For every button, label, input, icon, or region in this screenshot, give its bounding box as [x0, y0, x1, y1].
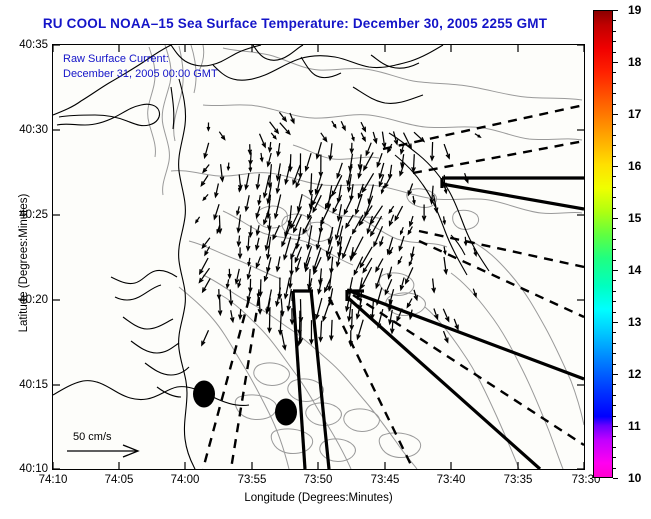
colorbar-minor-tick [613, 145, 616, 146]
xtick-label: 73:55 [238, 474, 267, 486]
colorbar-tick-label: 10 [628, 471, 641, 485]
colorbar-minor-tick [613, 280, 616, 281]
xtick-label: 73:50 [304, 474, 333, 486]
x-axis-label: Longitude (Degrees:Minutes) [52, 492, 585, 504]
radar-station-markers [193, 381, 297, 426]
colorbar-tick-label: 15 [628, 211, 641, 225]
xtick-label: 74:10 [39, 474, 68, 486]
colorbar-minor-tick [613, 20, 616, 21]
colorbar-minor-tick [613, 249, 616, 250]
ytick-label: 40:35 [19, 39, 48, 51]
colorbar-minor-tick [613, 291, 616, 292]
colorbar-tick [613, 270, 618, 271]
colorbar-tick [613, 10, 618, 11]
colorbar-minor-tick [613, 239, 616, 240]
colorbar-tick-label: 11 [628, 419, 641, 433]
colorbar-minor-tick [613, 156, 616, 157]
radar-station-marker [275, 399, 297, 426]
colorbar-minor-tick [613, 343, 616, 344]
xtick-label: 73:45 [371, 474, 400, 486]
ytick-label: 40:15 [19, 379, 48, 391]
colorbar-minor-tick [613, 83, 616, 84]
colorbar-minor-tick [613, 416, 616, 417]
colorbar-tick [613, 426, 618, 427]
colorbar-minor-tick [613, 197, 616, 198]
colorbar-tick [613, 478, 618, 479]
colorbar-minor-tick [613, 52, 616, 53]
map-plot-area: Raw Surface Current: December 31, 2005 0… [52, 44, 585, 470]
colorbar-tick-label: 17 [628, 107, 641, 121]
colorbar-minor-tick [613, 447, 616, 448]
ytick-label: 40:30 [19, 124, 48, 136]
colorbar-tick [613, 166, 618, 167]
colorbar-minor-tick [613, 436, 616, 437]
map-graphics [53, 45, 584, 469]
colorbar-minor-tick [613, 187, 616, 188]
colorbar-minor-tick [613, 312, 616, 313]
colorbar-minor-tick [613, 124, 616, 125]
colorbar-tick-label: 16 [628, 159, 641, 173]
sst-current-map-figure: RU COOL NOAA–15 Sea Surface Temperature:… [0, 0, 651, 519]
colorbar-minor-tick [613, 31, 616, 32]
ytick-label: 40:10 [19, 463, 48, 475]
xtick-label: 73:35 [504, 474, 533, 486]
colorbar-tick-label: 18 [628, 55, 641, 69]
colorbar-minor-tick [613, 353, 616, 354]
colorbar-tick-label: 19 [628, 3, 641, 17]
colorbar-minor-tick [613, 395, 616, 396]
y-axis-label: Latitude (Degrees:Minutes) [18, 153, 30, 373]
colorbar-minor-tick [613, 301, 616, 302]
colorbar-minor-tick [613, 41, 616, 42]
colorbar-minor-tick [613, 135, 616, 136]
colorbar-tick [613, 218, 618, 219]
colorbar-minor-tick [613, 208, 616, 209]
xtick-label: 73:40 [437, 474, 466, 486]
colorbar-minor-tick [613, 228, 616, 229]
colorbar-minor-tick [613, 468, 616, 469]
colorbar-minor-tick [613, 384, 616, 385]
xtick-label: 74:00 [171, 474, 200, 486]
figure-title: RU COOL NOAA–15 Sea Surface Temperature:… [0, 16, 590, 31]
colorbar-tick [613, 114, 618, 115]
colorbar-minor-tick [613, 93, 616, 94]
colorbar-minor-tick [613, 405, 616, 406]
xtick-label: 74:05 [105, 474, 134, 486]
colorbar-tick [613, 322, 618, 323]
colorbar-minor-tick [613, 176, 616, 177]
colorbar-gradient [593, 10, 613, 478]
colorbar-tick-label: 13 [628, 315, 641, 329]
colorbar-tick-label: 12 [628, 367, 641, 381]
colorbar-minor-tick [613, 104, 616, 105]
temperature-colorbar [593, 10, 613, 478]
colorbar-minor-tick [613, 332, 616, 333]
colorbar-minor-tick [613, 260, 616, 261]
radar-coverage-rays-solid [293, 178, 584, 469]
colorbar-minor-tick [613, 364, 616, 365]
colorbar-tick [613, 62, 618, 63]
colorbar-tick [613, 374, 618, 375]
colorbar-minor-tick [613, 457, 616, 458]
colorbar-minor-tick [613, 72, 616, 73]
radar-station-marker [193, 381, 215, 408]
colorbar-tick-label: 14 [628, 263, 641, 277]
